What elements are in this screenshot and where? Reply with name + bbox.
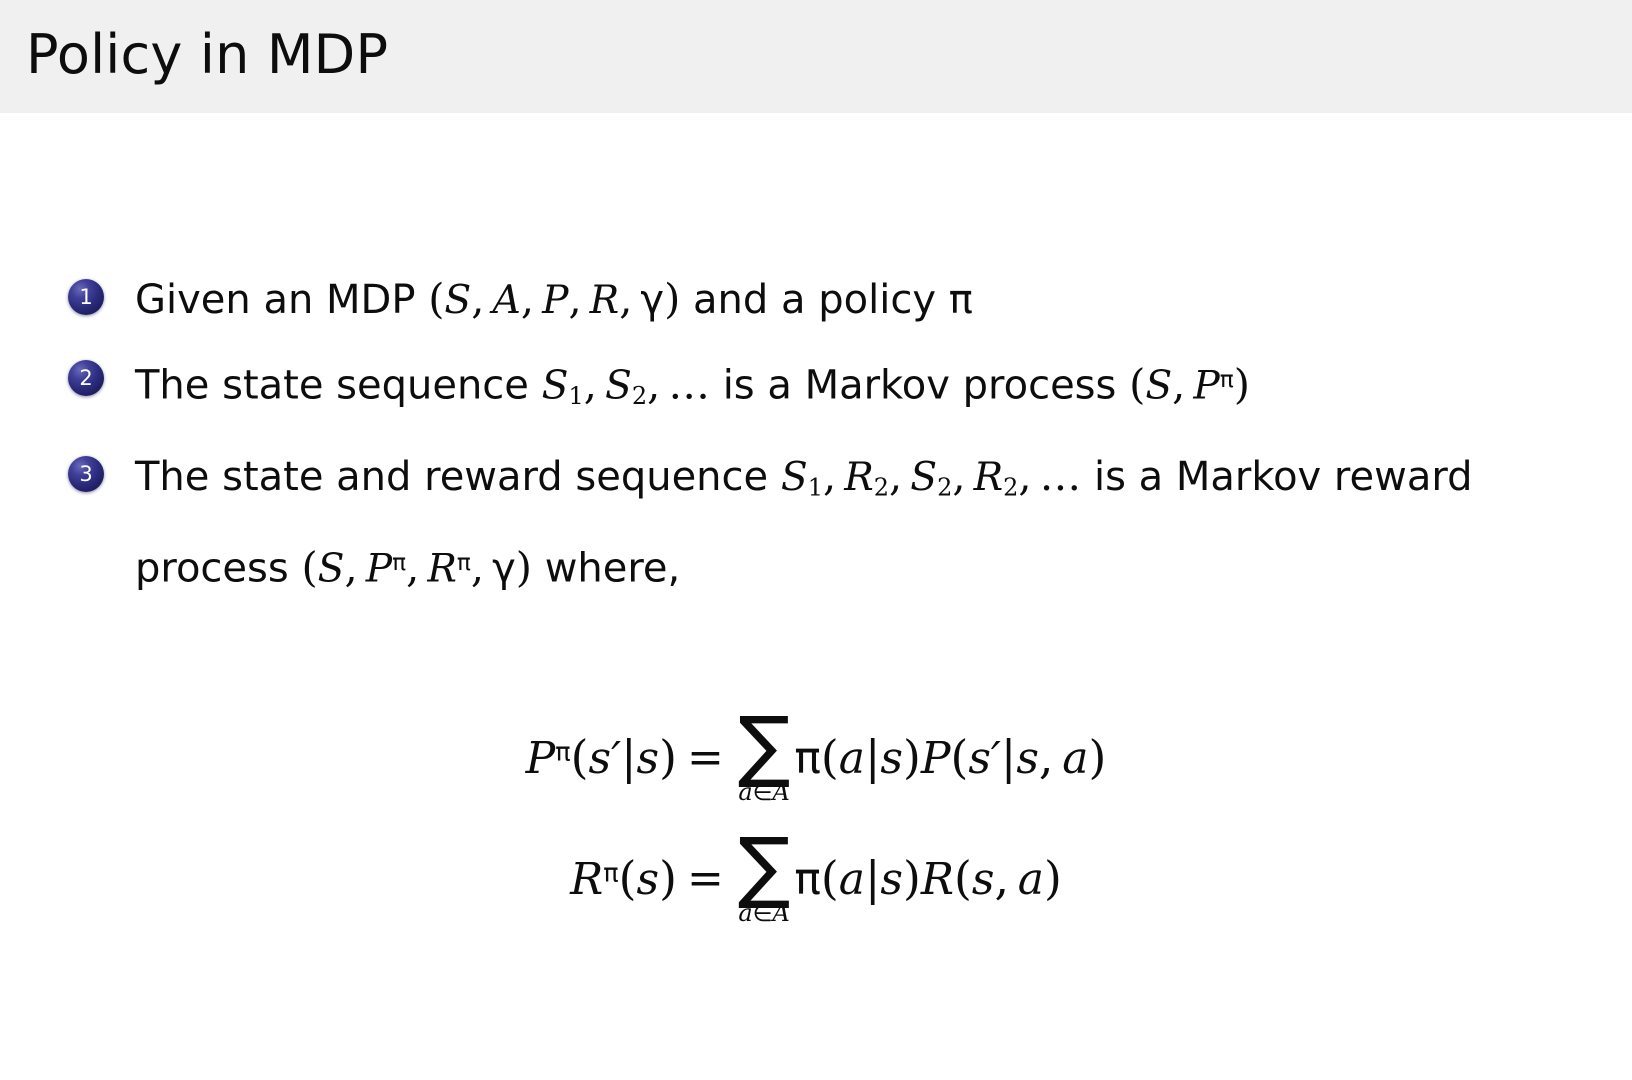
item1-sep-1: , [471,274,484,323]
eq2-lhs-sup-pi: π [603,858,618,888]
enumerate-list: 1 Given an MDP (S, A, P, R, γ) and a pol… [0,261,1632,611]
eq1-lhs-paren-open: ( [571,731,589,784]
list-item-text-2: The state sequence S1, S2, … is a Markov… [135,342,1540,434]
item1-var-gamma: γ [640,277,664,323]
eq1-lhs-sup-pi: π [555,737,570,767]
item3-sep-1: , [345,543,358,592]
item3-second-line: process (S, Pπ, Rπ, γ) where, [135,525,1540,607]
list-item-text-1: Given an MDP (S, A, P, R, γ) and a polic… [135,261,1540,338]
eq2-lhs-base: R [570,854,603,905]
eq2-rhs-paren-open-2: ( [954,852,972,905]
eq2-limit-set: A [773,899,790,927]
item2-var-S: S [1145,364,1172,409]
eq2-rhs-bar-1: | [865,852,880,905]
item2-sep-1: , [1172,360,1185,409]
eq2-equals: = [677,853,734,904]
item2-var-P: P [1193,364,1219,409]
item3-var-P: P [366,547,392,592]
item2-S1-sub: 1 [568,382,583,410]
list-marker-3: 3 [68,456,104,492]
element-of-icon: ∈ [753,901,773,927]
eq1-rhs-a2: a [1062,733,1088,784]
item1-sep-2: , [521,274,534,323]
eq1-rhs-prime: ′ [991,733,1001,784]
item1-var-P: P [542,278,568,323]
eq1-rhs-paren-close-2: ) [1089,731,1107,784]
equation-transition-policy: Pπ(s′|s)=∑a∈Aπ(a|s)P(s′|s, a) [0,709,1632,806]
list-item: 2 The state sequence S1, S2, … is a Mark… [0,342,1632,434]
eq2-rhs: π(a|s)R(s, a) [794,852,1062,905]
eq1-lhs-s: s [588,733,611,784]
item3-S1-sub: 1 [808,473,823,501]
list-item: 3 The state and reward sequence S1, R2, … [0,438,1632,607]
item3-tail: where, [545,546,681,592]
eq2-lhs: Rπ(s) [570,852,677,905]
eq1-lhs-bar: | [621,731,636,784]
eq2-sum-limit: a∈A [738,900,791,927]
eq2-rhs-a: a [839,854,865,905]
sigma-icon: ∑ [738,709,791,783]
eq1-lhs-s2: s [636,733,659,784]
equation-block: Pπ(s′|s)=∑a∈Aπ(a|s)P(s′|s, a) Rπ(s)=∑a∈A… [0,709,1632,927]
item3-R2b-sub: 2 [1003,473,1018,501]
eq2-rhs-paren-close-1: ) [903,852,921,905]
eq1-rhs-bar-1: | [865,731,880,784]
eq1-rhs-paren-open-2: ( [950,731,968,784]
equation-reward-policy: Rπ(s)=∑a∈Aπ(a|s)R(s, a) [0,830,1632,927]
item2-mid: is a Markov process [723,363,1117,409]
item2-comma-1: , [584,360,597,409]
item2-S1: S [542,364,569,409]
element-of-icon: ∈ [753,780,773,806]
eq1-sum-limit: a∈A [738,779,791,806]
list-item: 1 Given an MDP (S, A, P, R, γ) and a pol… [0,261,1632,338]
slide-body: 1 Given an MDP (S, A, P, R, γ) and a pol… [0,113,1632,1080]
item2-var-P-sup: π [1220,366,1234,393]
eq1-rhs-s: s [880,733,903,784]
item2-comma-2: , [647,360,660,409]
eq2-rhs-s: s [880,854,903,905]
eq1-rhs-s2: s [1016,733,1039,784]
slide-header: Policy in MDP [0,0,1632,113]
item2-paren-close: ) [1234,360,1250,409]
item3-paren-close: ) [516,543,532,592]
item3-R2b: R [974,455,1004,500]
item3-var-S: S [318,547,345,592]
eq1-summation: ∑a∈A [738,709,791,806]
item2-S2: S [605,364,632,409]
item3-comma-1: , [823,451,836,500]
eq2-rhs-R: R [921,854,954,905]
eq2-lhs-paren-open: ( [619,852,637,905]
item2-paren-open: ( [1129,360,1145,409]
eq1-rhs: π(a|s)P(s′|s, a) [794,731,1106,784]
item2-lead: The state sequence [135,363,529,409]
eq1-limit-set: A [773,778,790,806]
eq1-lhs: Pπ(s′|s) [526,731,677,784]
item1-tail: and a policy [693,277,936,323]
item3-comma-3: , [952,451,965,500]
item3-line2-lead: process [135,546,289,592]
eq2-rhs-paren-open-1: ( [821,852,839,905]
eq1-rhs-comma: , [1039,731,1054,784]
item2-ellipsis: … [668,360,710,409]
item3-comma-2: , [889,451,902,500]
eq2-rhs-s2: s [972,854,995,905]
eq2-lhs-paren-close: ) [659,852,677,905]
item1-sep-4: , [619,274,632,323]
eq1-rhs-bar-2: | [1001,731,1016,784]
eq2-rhs-a2: a [1018,854,1044,905]
eq2-summation: ∑a∈A [738,830,791,927]
eq1-rhs-a: a [839,733,865,784]
eq1-lhs-prime: ′ [611,733,621,784]
item1-sep-3: , [568,274,581,323]
item3-sep-3: , [471,543,484,592]
item3-var-R: R [427,547,457,592]
list-item-text-3: The state and reward sequence S1, R2, S2… [135,438,1540,607]
eq2-rhs-comma: , [994,852,1009,905]
item2-S2-sub: 2 [632,382,647,410]
eq1-rhs-paren-close-1: ) [903,731,921,784]
sigma-icon: ∑ [738,830,791,904]
eq1-lhs-base: P [526,733,556,784]
item1-var-R: R [590,278,620,323]
eq2-lhs-s: s [636,854,659,905]
list-marker-1: 1 [68,279,104,315]
item3-R2-sub: 2 [874,473,889,501]
eq1-equals: = [677,732,734,783]
item3-R2: R [844,455,874,500]
item3-lead: The state and reward sequence [135,454,768,500]
eq1-rhs-pi: π [794,733,821,784]
item1-paren-close: ) [664,274,680,323]
eq2-limit-var: a [738,899,752,927]
eq2-rhs-pi: π [794,854,821,905]
eq1-rhs-P: P [921,733,951,784]
eq1-limit-var: a [738,778,752,806]
eq1-rhs-sprime: s [968,733,991,784]
eq1-rhs-paren-open-1: ( [821,731,839,784]
item1-policy-pi: π [949,277,973,323]
eq2-rhs-paren-close-2: ) [1044,852,1062,905]
item3-paren-open: ( [301,543,317,592]
item3-comma-4: , [1018,451,1031,500]
list-marker-2: 2 [68,360,104,396]
item3-sep-2: , [406,543,419,592]
item1-var-A: A [493,278,521,323]
item3-mid: is a Markov reward [1094,454,1473,500]
item3-var-gamma: γ [492,546,516,592]
page-title: Policy in MDP [26,18,388,92]
item3-S2: S [910,455,937,500]
item3-var-R-sup: π [457,549,471,576]
item1-paren-open: ( [428,274,444,323]
item3-ellipsis: … [1040,451,1082,500]
eq1-lhs-paren-close: ) [659,731,677,784]
item3-S1: S [781,455,808,500]
item3-S2-sub: 2 [937,473,952,501]
item1-lead: Given an MDP [135,277,415,323]
item3-var-P-sup: π [392,549,406,576]
item1-var-S: S [444,278,471,323]
